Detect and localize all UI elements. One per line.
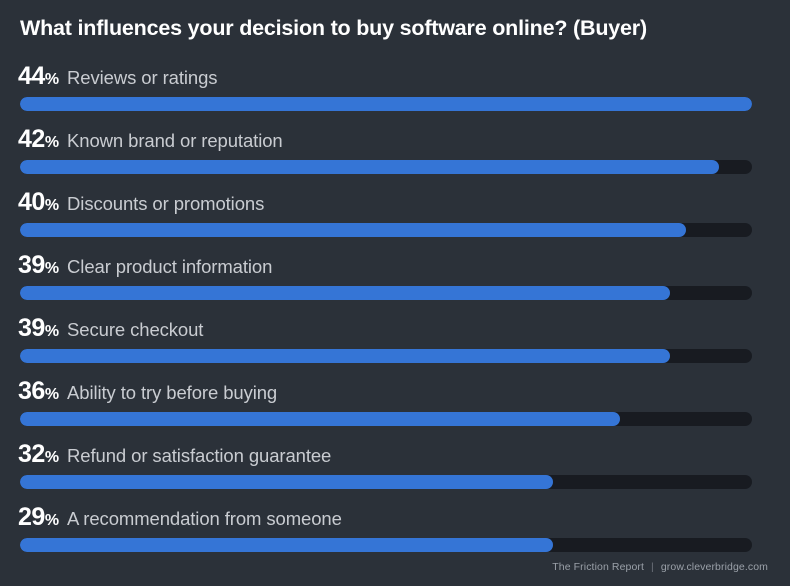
bar-label: Known brand or reputation: [67, 132, 283, 151]
bar-fill: [20, 349, 670, 363]
bar-value: 29: [18, 505, 45, 530]
bar-fill: [20, 412, 620, 426]
bar-row-header: 36%Ability to try before buying: [18, 379, 277, 404]
footer-site: grow.cleverbridge.com: [661, 561, 768, 573]
bar-fill: [20, 286, 670, 300]
bar-value: 36: [18, 379, 45, 404]
footer-report-name: The Friction Report: [552, 561, 644, 573]
bar-row: 36%Ability to try before buying: [0, 379, 790, 442]
bar-value-percent-sign: %: [45, 324, 59, 340]
bar-label: Secure checkout: [67, 321, 203, 340]
bar-value: 39: [18, 316, 45, 341]
bar-fill: [20, 223, 686, 237]
chart-footer: The Friction Report | grow.cleverbridge.…: [552, 561, 768, 573]
bar-track: [20, 160, 752, 174]
bar-value: 39: [18, 253, 45, 278]
bar-value-percent-sign: %: [45, 387, 59, 403]
bar-label: Refund or satisfaction guarantee: [67, 447, 331, 466]
bar-row: 40%Discounts or promotions: [0, 190, 790, 253]
bar-value-percent-sign: %: [45, 135, 59, 151]
bar-row-header: 32%Refund or satisfaction guarantee: [18, 442, 331, 467]
footer-separator: |: [651, 561, 654, 573]
bar-row: 39%Secure checkout: [0, 316, 790, 379]
bar-value: 40: [18, 190, 45, 215]
chart-title: What influences your decision to buy sof…: [20, 16, 647, 41]
bar-row: 32%Refund or satisfaction guarantee: [0, 442, 790, 505]
bar-value-percent-sign: %: [45, 261, 59, 277]
bar-track: [20, 538, 752, 552]
bar-row-header: 39%Secure checkout: [18, 316, 203, 341]
bar-value-percent-sign: %: [45, 450, 59, 466]
bar-row: 39%Clear product information: [0, 253, 790, 316]
bar-row-header: 40%Discounts or promotions: [18, 190, 264, 215]
bar-track: [20, 286, 752, 300]
bar-track: [20, 349, 752, 363]
bar-label: Clear product information: [67, 258, 272, 277]
bar-label: Reviews or ratings: [67, 69, 217, 88]
bar-fill: [20, 475, 553, 489]
bar-value: 32: [18, 442, 45, 467]
bar-fill: [20, 97, 752, 111]
bar-value-percent-sign: %: [45, 72, 59, 88]
bar-value: 42: [18, 127, 45, 152]
bar-row: 42%Known brand or reputation: [0, 127, 790, 190]
bar-row: 44%Reviews or ratings: [0, 64, 790, 127]
bar-label: Ability to try before buying: [67, 384, 277, 403]
bar-value: 44: [18, 64, 45, 89]
bar-track: [20, 412, 752, 426]
bar-value-percent-sign: %: [45, 198, 59, 214]
bar-row-header: 44%Reviews or ratings: [18, 64, 217, 89]
bar-track: [20, 475, 752, 489]
bar-fill: [20, 538, 553, 552]
bar-row: 29%A recommendation from someone: [0, 505, 790, 568]
chart-container: What influences your decision to buy sof…: [0, 0, 790, 586]
bar-rows: 44%Reviews or ratings42%Known brand or r…: [0, 64, 790, 568]
bar-label: Discounts or promotions: [67, 195, 264, 214]
bar-track: [20, 223, 752, 237]
bar-value-percent-sign: %: [45, 513, 59, 529]
bar-row-header: 29%A recommendation from someone: [18, 505, 342, 530]
bar-label: A recommendation from someone: [67, 510, 342, 529]
bar-track: [20, 97, 752, 111]
bar-fill: [20, 160, 719, 174]
bar-row-header: 42%Known brand or reputation: [18, 127, 283, 152]
bar-row-header: 39%Clear product information: [18, 253, 272, 278]
